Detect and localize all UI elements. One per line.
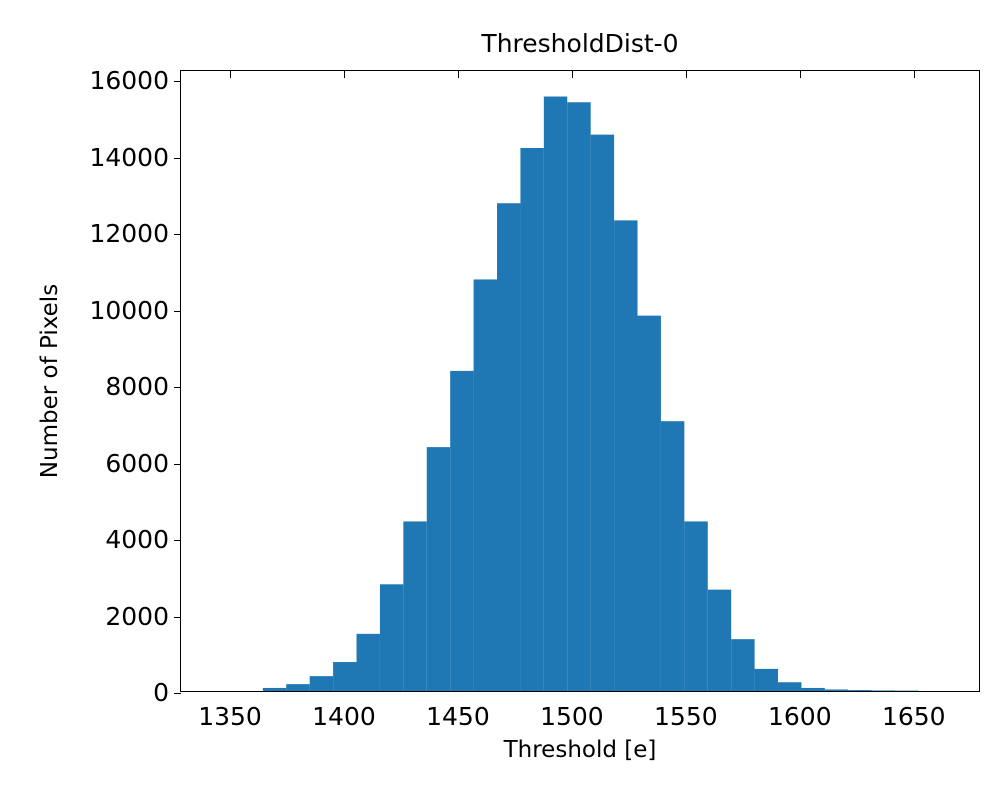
plot-axes: 0200040006000800010000120001400016000 13… xyxy=(180,70,980,692)
y-tick-label: 14000 xyxy=(89,145,181,171)
histogram-bar xyxy=(755,669,778,691)
histogram-bar xyxy=(380,584,403,691)
y-tick: 16000 xyxy=(0,68,181,94)
x-tick-mark xyxy=(800,71,801,78)
x-tick-mark xyxy=(914,71,915,78)
histogram-bar xyxy=(310,676,333,691)
y-tick-mark xyxy=(174,540,181,541)
histogram-bar xyxy=(778,682,801,691)
y-tick-mark xyxy=(174,464,181,465)
x-tick-mark xyxy=(344,71,345,78)
histogram-bar xyxy=(591,135,614,691)
histogram-bar xyxy=(684,521,707,691)
x-tick-mark xyxy=(230,71,231,78)
y-tick-mark xyxy=(174,617,181,618)
y-tick: 2000 xyxy=(0,604,181,630)
y-tick-label: 10000 xyxy=(89,298,181,324)
histogram-bar xyxy=(427,447,450,691)
histogram-bar xyxy=(357,634,380,691)
y-tick-mark xyxy=(174,158,181,159)
histogram-bar xyxy=(638,316,661,691)
histogram-bar xyxy=(333,662,356,691)
y-tick: 6000 xyxy=(0,451,181,477)
y-tick: 4000 xyxy=(0,527,181,553)
histogram-bar xyxy=(520,148,543,691)
y-tick-mark xyxy=(174,81,181,82)
x-tick-mark xyxy=(572,71,573,78)
y-tick: 12000 xyxy=(0,221,181,247)
y-tick-mark xyxy=(174,387,181,388)
plot-area xyxy=(181,71,979,691)
y-tick-label: 16000 xyxy=(89,68,181,94)
y-tick-label: 8000 xyxy=(105,374,181,400)
x-tick-label: 1650 xyxy=(882,691,946,731)
x-axis-label: Threshold [e] xyxy=(180,737,980,763)
y-tick-mark xyxy=(174,234,181,235)
histogram-bar xyxy=(474,279,497,691)
y-tick: 14000 xyxy=(0,145,181,171)
y-tick-mark xyxy=(174,311,181,312)
figure-canvas: ThresholdDist-0 020004000600080001000012… xyxy=(0,0,1000,800)
histogram-bars xyxy=(181,71,979,691)
histogram-bar xyxy=(661,421,684,691)
x-tick-mark xyxy=(686,71,687,78)
histogram-bar xyxy=(731,639,754,691)
histogram-bar xyxy=(450,371,473,691)
y-tick-label: 2000 xyxy=(105,604,181,630)
y-axis-label: Number of Pixels xyxy=(32,70,68,692)
x-tick-mark xyxy=(458,71,459,78)
y-tick-label: 6000 xyxy=(105,451,181,477)
y-tick: 10000 xyxy=(0,298,181,324)
histogram-bar xyxy=(544,97,567,691)
histogram-bar xyxy=(403,521,426,691)
page-title: ThresholdDist-0 xyxy=(180,29,980,59)
x-tick: 1650 xyxy=(814,691,1000,731)
histogram-bar xyxy=(286,684,309,691)
histogram-bar xyxy=(614,220,637,691)
histogram-bar xyxy=(567,102,590,691)
histogram-bar xyxy=(497,203,520,691)
y-tick-label: 4000 xyxy=(105,527,181,553)
histogram-bar xyxy=(708,590,731,691)
y-tick-label: 12000 xyxy=(89,221,181,247)
y-tick: 8000 xyxy=(0,374,181,400)
